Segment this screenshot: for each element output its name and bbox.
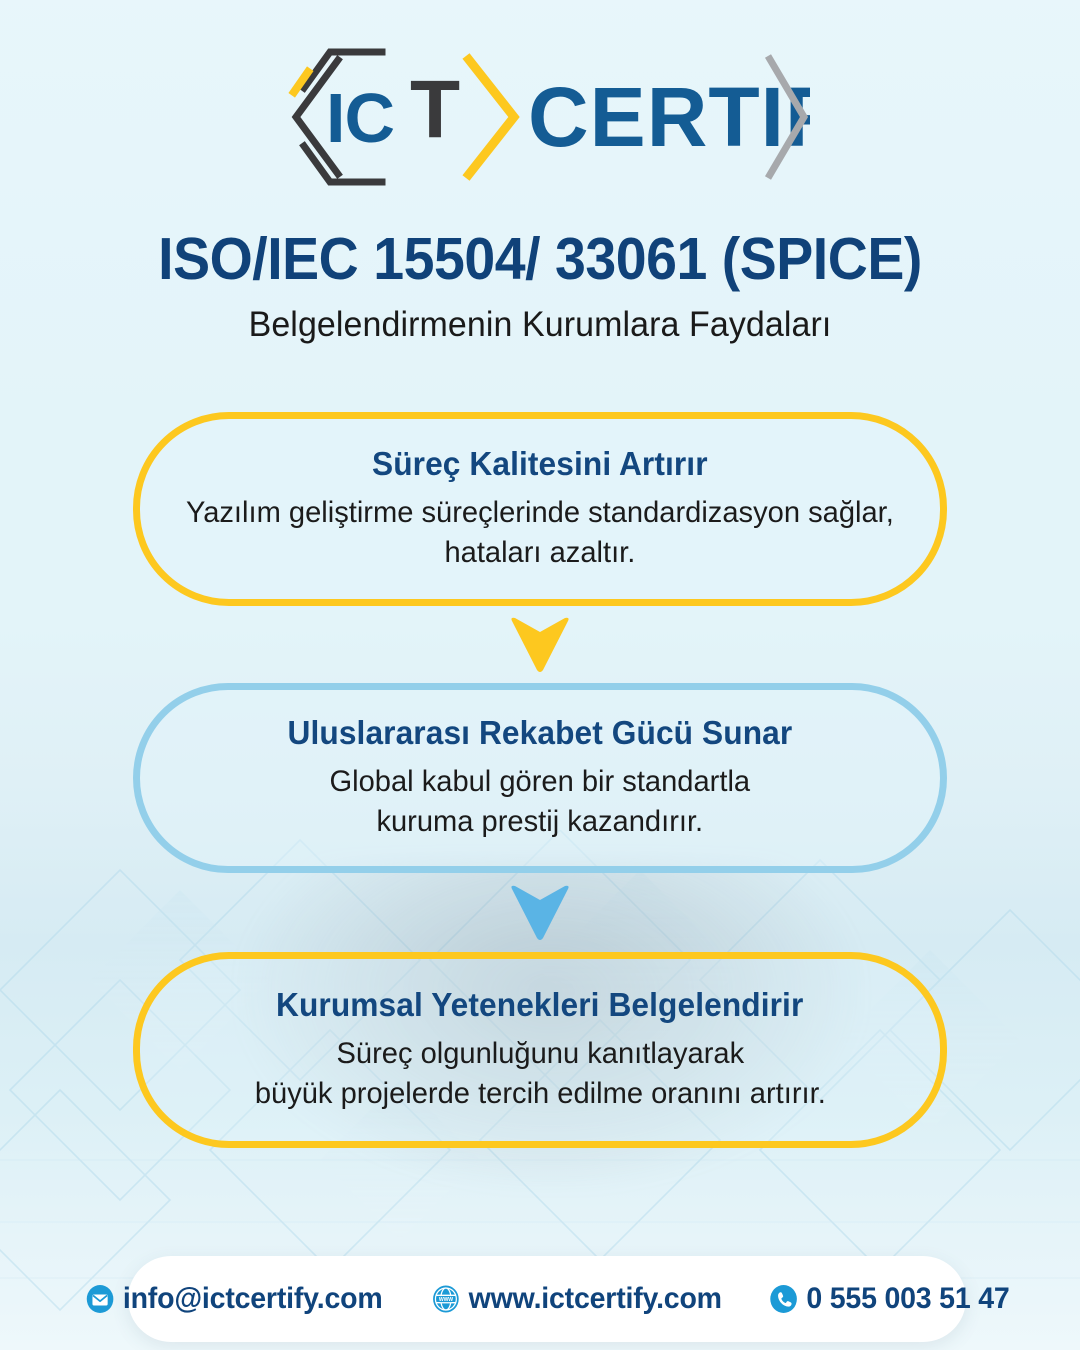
contact-phone-label: 0 555 003 51 47 — [807, 1282, 1010, 1316]
contact-email-label: info@ictcertify.com — [123, 1282, 383, 1316]
benefit-card-1: Süreç Kalitesini Artırır Yazılım gelişti… — [133, 412, 947, 606]
arrow-down-yellow-icon — [509, 616, 571, 674]
benefit-card-2: Uluslararası Rekabet Gücü Sunar Global k… — [133, 683, 947, 873]
infographic-poster: IC T CERTIFY ISO/IEC 15504/ 33061 (SPICE… — [0, 0, 1080, 1350]
benefit-card-1-body: Yazılım geliştirme süreçlerinde standard… — [186, 493, 894, 572]
benefit-card-1-title: Süreç Kalitesini Artırır — [372, 445, 708, 483]
page-subtitle: Belgelendirmenin Kurumlara Faydaları — [16, 305, 1064, 345]
title-block: ISO/IEC 15504/ 33061 (SPICE) Belgelendir… — [0, 228, 1080, 345]
svg-text:WWW: WWW — [439, 1297, 453, 1303]
contact-website[interactable]: WWW www.ictcertify.com — [432, 1282, 722, 1316]
contact-website-label: www.ictcertify.com — [469, 1282, 722, 1316]
benefit-card-3: Kurumsal Yetenekleri Belgelendirir Süreç… — [133, 952, 947, 1148]
contact-footer-bar: info@ictcertify.com WWW www.ictcertify.c… — [128, 1256, 966, 1342]
svg-text:CERTIFY: CERTIFY — [528, 70, 810, 164]
brand-logo: IC T CERTIFY — [0, 42, 1080, 192]
contact-email[interactable]: info@ictcertify.com — [85, 1282, 382, 1316]
arrow-down-blue-icon — [509, 884, 571, 942]
contact-phone[interactable]: 0 555 003 51 47 — [770, 1282, 1010, 1316]
svg-text:IC: IC — [326, 79, 394, 157]
page-title: ISO/IEC 15504/ 33061 (SPICE) — [32, 228, 1047, 291]
benefit-card-2-title: Uluslararası Rekabet Gücü Sunar — [288, 714, 793, 752]
phone-icon — [770, 1284, 799, 1314]
benefit-card-2-body: Global kabul gören bir standartla kuruma… — [330, 762, 751, 841]
benefit-card-3-body: Süreç olgunluğunu kanıtlayarak büyük pro… — [255, 1034, 826, 1113]
globe-icon: WWW — [432, 1284, 461, 1314]
svg-text:T: T — [410, 64, 460, 155]
benefit-card-3-title: Kurumsal Yetenekleri Belgelendirir — [276, 986, 803, 1024]
ict-certify-logo-icon: IC T CERTIFY — [270, 42, 810, 192]
email-icon — [85, 1284, 114, 1314]
